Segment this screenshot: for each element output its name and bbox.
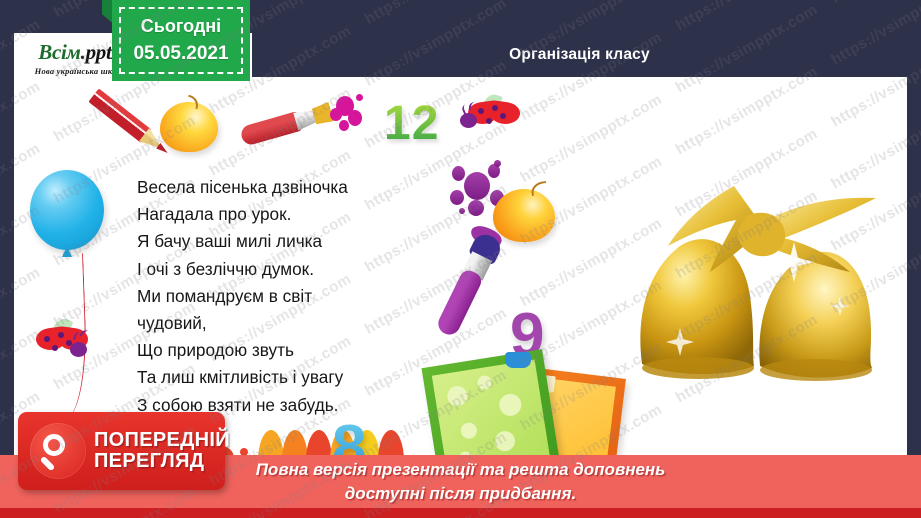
purchase-notice-line1: Повна версія презентації та решта доповн… — [256, 458, 666, 482]
poem-line: Та лиш кмітливість і увагу — [137, 364, 447, 391]
preview-badge-line2: ПЕРЕГЛЯД — [94, 451, 230, 472]
preview-badge-line1: ПОПЕРЕДНІЙ — [94, 430, 230, 451]
today-label: Сьогодні — [141, 16, 221, 37]
poem-line: Нагадала про урок. — [137, 201, 447, 228]
yellow-apple-icon — [160, 96, 218, 152]
today-date-badge: Сьогодні 05.05.2021 — [112, 0, 250, 81]
slide-header-bar: Організація класу — [252, 33, 907, 77]
poem-line: Я бачу ваші милі личка — [137, 228, 447, 255]
magnifier-icon — [30, 423, 86, 479]
presentation-slide: 12 9 — [0, 0, 921, 518]
golden-bells-icon — [584, 168, 884, 390]
poem-line: І очі з безліччю думок. — [137, 256, 447, 283]
poem-text-block: Весела пісенька дзвіночка Нагадала про у… — [137, 174, 447, 419]
poem-line: Що природою звуть — [137, 337, 447, 364]
poem-line: чудовий, — [137, 310, 447, 337]
poem-line: Ми помандруєм в світ — [137, 283, 447, 310]
blue-balloon-icon — [30, 170, 104, 250]
preview-watermark-badge[interactable]: ПОПЕРЕДНІЙ ПЕРЕГЛЯД — [18, 412, 225, 490]
ladybug-bottom-icon — [34, 322, 92, 368]
number-12-decoration: 12 — [384, 96, 439, 151]
magenta-paint-splash-icon — [330, 92, 364, 134]
purchase-notice-line2: доступні після придбання. — [345, 482, 576, 506]
poem-line: Весела пісенька дзвіночка — [137, 174, 447, 201]
today-date: 05.05.2021 — [133, 43, 228, 65]
orange-apple-icon — [493, 182, 555, 242]
logo-word-first: Всім — [38, 40, 80, 64]
page-title: Організація класу — [509, 46, 650, 64]
logo-wordmark: Всім.pptx — [38, 42, 121, 63]
banner-footer-strip — [0, 508, 921, 518]
ladybug-top-icon — [466, 96, 524, 142]
preview-badge-text: ПОПЕРЕДНІЙ ПЕРЕГЛЯД — [94, 430, 230, 472]
blue-bookmark-clip-icon — [505, 352, 531, 368]
